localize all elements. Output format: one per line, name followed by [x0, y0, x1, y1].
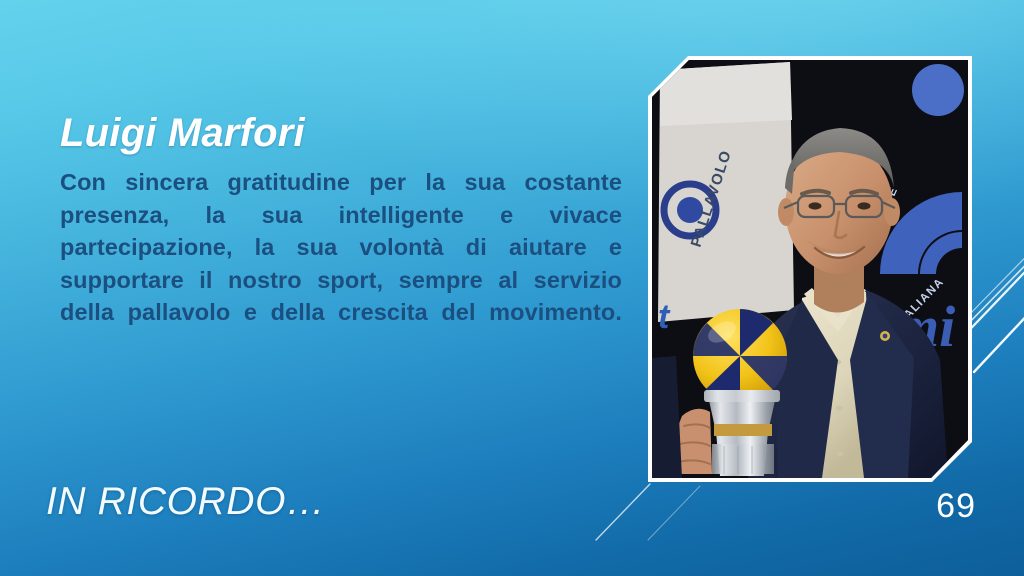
text-column: Luigi Marfori Con sincera gratitudine pe… — [60, 112, 622, 361]
svg-text:t: t — [658, 298, 671, 336]
footer-title: IN RICORDO… — [46, 480, 326, 524]
portrait-photo: PALLAVOLO t FEDERAZIONE — [652, 60, 968, 478]
tribute-paragraph: Con sincera gratitudine per la sua costa… — [60, 166, 622, 361]
page-number: 69 — [936, 487, 976, 526]
person-name: Luigi Marfori — [60, 112, 622, 154]
photo-frame: PALLAVOLO t FEDERAZIONE — [648, 56, 972, 482]
slide-canvas: Luigi Marfori Con sincera gratitudine pe… — [0, 0, 1024, 576]
